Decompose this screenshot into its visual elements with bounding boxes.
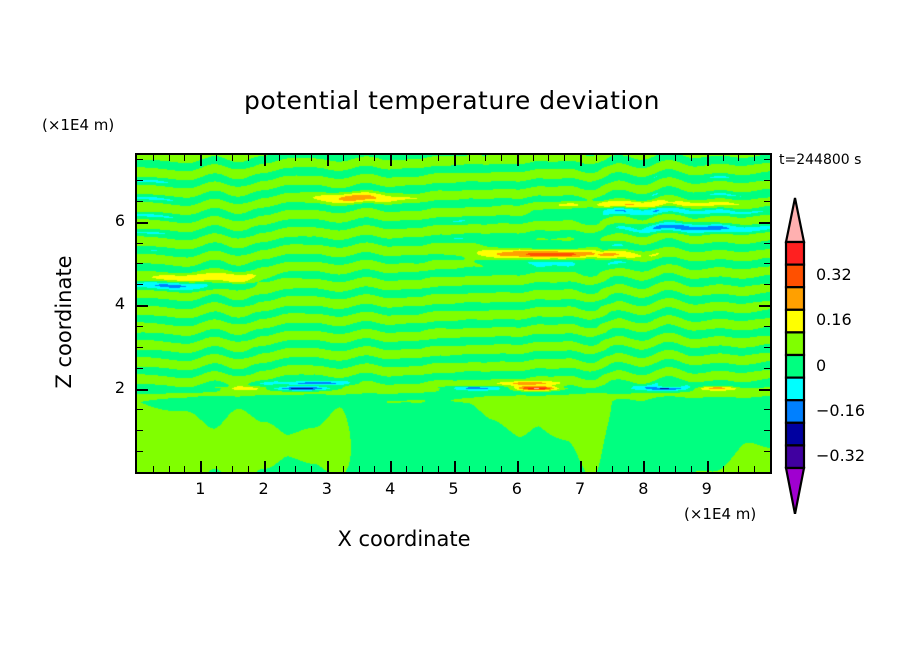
colorbar-tick-label: 0: [816, 356, 826, 375]
x-tick-top: [659, 155, 660, 161]
colorbar-tick-label: −0.16: [816, 401, 865, 420]
x-tick-top: [343, 155, 344, 161]
x-tick-bottom: [248, 466, 249, 472]
x-tick-bottom: [675, 466, 676, 472]
x-tick-top: [216, 155, 217, 161]
x-axis-title-text: X coordinate: [337, 527, 470, 551]
x-tick-top: [454, 155, 456, 166]
y-tick-left: [137, 159, 143, 160]
y-tick-left: [137, 222, 148, 224]
x-tick-top: [295, 155, 296, 161]
colorbar-band: [786, 423, 804, 446]
x-tick-bottom: [454, 461, 456, 472]
x-tick-bottom: [264, 461, 266, 472]
x-tick-top: [564, 155, 565, 161]
x-tick-label: 8: [623, 479, 663, 498]
x-tick-top: [279, 155, 280, 161]
colorbar-band: [786, 400, 804, 423]
y-tick-right: [764, 243, 770, 244]
x-tick-label: 6: [497, 479, 537, 498]
x-tick-top: [248, 155, 249, 161]
x-tick-top: [374, 155, 375, 161]
x-tick-bottom: [564, 466, 565, 472]
x-tick-top: [327, 155, 329, 166]
x-tick-top: [580, 155, 582, 166]
x-tick-bottom: [295, 466, 296, 472]
x-tick-top: [184, 155, 185, 161]
x-tick-top: [612, 155, 613, 161]
colorbar-cap-top: [786, 198, 804, 242]
x-tick-top: [707, 155, 709, 166]
x-tick-bottom: [596, 466, 597, 472]
colorbar-band: [786, 445, 804, 468]
x-tick-bottom: [738, 466, 739, 472]
x-tick-bottom: [643, 461, 645, 472]
x-tick-top: [596, 155, 597, 161]
y-tick-label: 6: [85, 211, 125, 230]
y-tick-left: [137, 368, 143, 369]
y-tick-right: [764, 326, 770, 327]
plot-area: [135, 153, 772, 474]
x-tick-bottom: [754, 466, 755, 472]
x-tick-top: [723, 155, 724, 161]
contour-plot-figure: potential temperature deviation (×1E4 m)…: [0, 0, 904, 654]
x-tick-top: [533, 155, 534, 161]
x-tick-bottom: [422, 466, 423, 472]
y-tick-right: [764, 159, 770, 160]
y-tick-left: [137, 243, 143, 244]
colorbar: [779, 196, 811, 514]
x-tick-label: 1: [180, 479, 220, 498]
x-tick-bottom: [311, 466, 312, 472]
x-tick-bottom: [153, 466, 154, 472]
colorbar-tick-label: 0.16: [816, 310, 852, 329]
x-tick-label: 3: [307, 479, 347, 498]
y-tick-right: [759, 222, 770, 224]
x-tick-bottom: [169, 466, 170, 472]
x-tick-bottom: [691, 466, 692, 472]
x-tick-bottom: [501, 466, 502, 472]
y-tick-left: [137, 347, 143, 348]
x-tick-bottom: [374, 466, 375, 472]
x-tick-bottom: [628, 466, 629, 472]
x-tick-bottom: [406, 466, 407, 472]
colorbar-tick-label: 0.32: [816, 265, 852, 284]
colorbar-band: [786, 310, 804, 333]
y-tick-left: [137, 305, 148, 307]
x-tick-bottom: [438, 466, 439, 472]
y-axis-title: Z coordinate: [52, 222, 76, 422]
x-axis-unit-label: (×1E4 m): [684, 505, 756, 523]
colorbar-band: [786, 332, 804, 355]
y-tick-left: [137, 326, 143, 327]
y-tick-left: [137, 201, 143, 202]
y-tick-left: [137, 284, 143, 285]
x-tick-top: [643, 155, 645, 166]
y-tick-right: [759, 305, 770, 307]
y-tick-label: 4: [85, 294, 125, 313]
x-tick-bottom: [659, 466, 660, 472]
x-tick-top: [153, 155, 154, 161]
x-tick-top: [390, 155, 392, 166]
x-tick-top: [738, 155, 739, 161]
x-tick-bottom: [359, 466, 360, 472]
x-tick-bottom: [707, 461, 709, 472]
y-tick-right: [764, 180, 770, 181]
x-tick-label: 7: [560, 479, 600, 498]
x-tick-bottom: [517, 461, 519, 472]
y-tick-label: 2: [85, 378, 125, 397]
y-tick-right: [764, 201, 770, 202]
colorbar-band: [786, 355, 804, 378]
x-tick-top: [406, 155, 407, 161]
colorbar-svg: [779, 196, 811, 514]
x-tick-top: [438, 155, 439, 161]
y-tick-right: [764, 409, 770, 410]
z-axis-unit-label: (×1E4 m): [42, 116, 114, 134]
x-tick-top: [169, 155, 170, 161]
x-tick-top: [422, 155, 423, 161]
x-tick-bottom: [232, 466, 233, 472]
x-tick-top: [501, 155, 502, 161]
y-tick-left: [137, 263, 143, 264]
x-tick-top: [675, 155, 676, 161]
x-tick-bottom: [548, 466, 549, 472]
x-tick-top: [517, 155, 519, 166]
x-tick-label: 4: [370, 479, 410, 498]
x-tick-label: 9: [687, 479, 727, 498]
x-tick-bottom: [612, 466, 613, 472]
y-tick-right: [764, 347, 770, 348]
y-tick-right: [764, 451, 770, 452]
x-tick-top: [469, 155, 470, 161]
x-tick-bottom: [184, 466, 185, 472]
colorbar-band: [786, 287, 804, 310]
x-tick-bottom: [216, 466, 217, 472]
x-tick-top: [311, 155, 312, 161]
y-tick-right: [764, 368, 770, 369]
x-axis-title: X coordinate: [0, 527, 904, 551]
colorbar-band: [786, 242, 804, 265]
timestamp-annotation: t=244800 s: [779, 152, 861, 168]
x-tick-bottom: [279, 466, 280, 472]
x-tick-top: [628, 155, 629, 161]
y-tick-left: [137, 180, 143, 181]
x-tick-label: 2: [244, 479, 284, 498]
y-tick-left: [137, 389, 148, 391]
y-tick-left: [137, 409, 143, 410]
colorbar-cap-bottom: [786, 468, 804, 514]
x-tick-top: [485, 155, 486, 161]
colorbar-band: [786, 378, 804, 401]
page-title: potential temperature deviation: [0, 86, 904, 115]
x-tick-bottom: [580, 461, 582, 472]
x-tick-top: [232, 155, 233, 161]
x-tick-top: [359, 155, 360, 161]
x-tick-top: [691, 155, 692, 161]
x-tick-top: [754, 155, 755, 161]
x-tick-bottom: [200, 461, 202, 472]
colorbar-band: [786, 265, 804, 288]
y-tick-right: [764, 263, 770, 264]
x-tick-bottom: [533, 466, 534, 472]
x-tick-label: 5: [434, 479, 474, 498]
x-tick-bottom: [343, 466, 344, 472]
y-tick-right: [764, 430, 770, 431]
x-tick-bottom: [469, 466, 470, 472]
x-tick-bottom: [723, 466, 724, 472]
x-tick-bottom: [390, 461, 392, 472]
y-tick-right: [764, 284, 770, 285]
y-tick-left: [137, 451, 143, 452]
x-tick-top: [264, 155, 266, 166]
contour-field-canvas: [137, 155, 770, 472]
y-tick-right: [759, 389, 770, 391]
x-tick-bottom: [327, 461, 329, 472]
x-tick-bottom: [485, 466, 486, 472]
x-tick-top: [548, 155, 549, 161]
colorbar-tick-label: −0.32: [816, 446, 865, 465]
y-tick-left: [137, 430, 143, 431]
x-tick-top: [200, 155, 202, 166]
